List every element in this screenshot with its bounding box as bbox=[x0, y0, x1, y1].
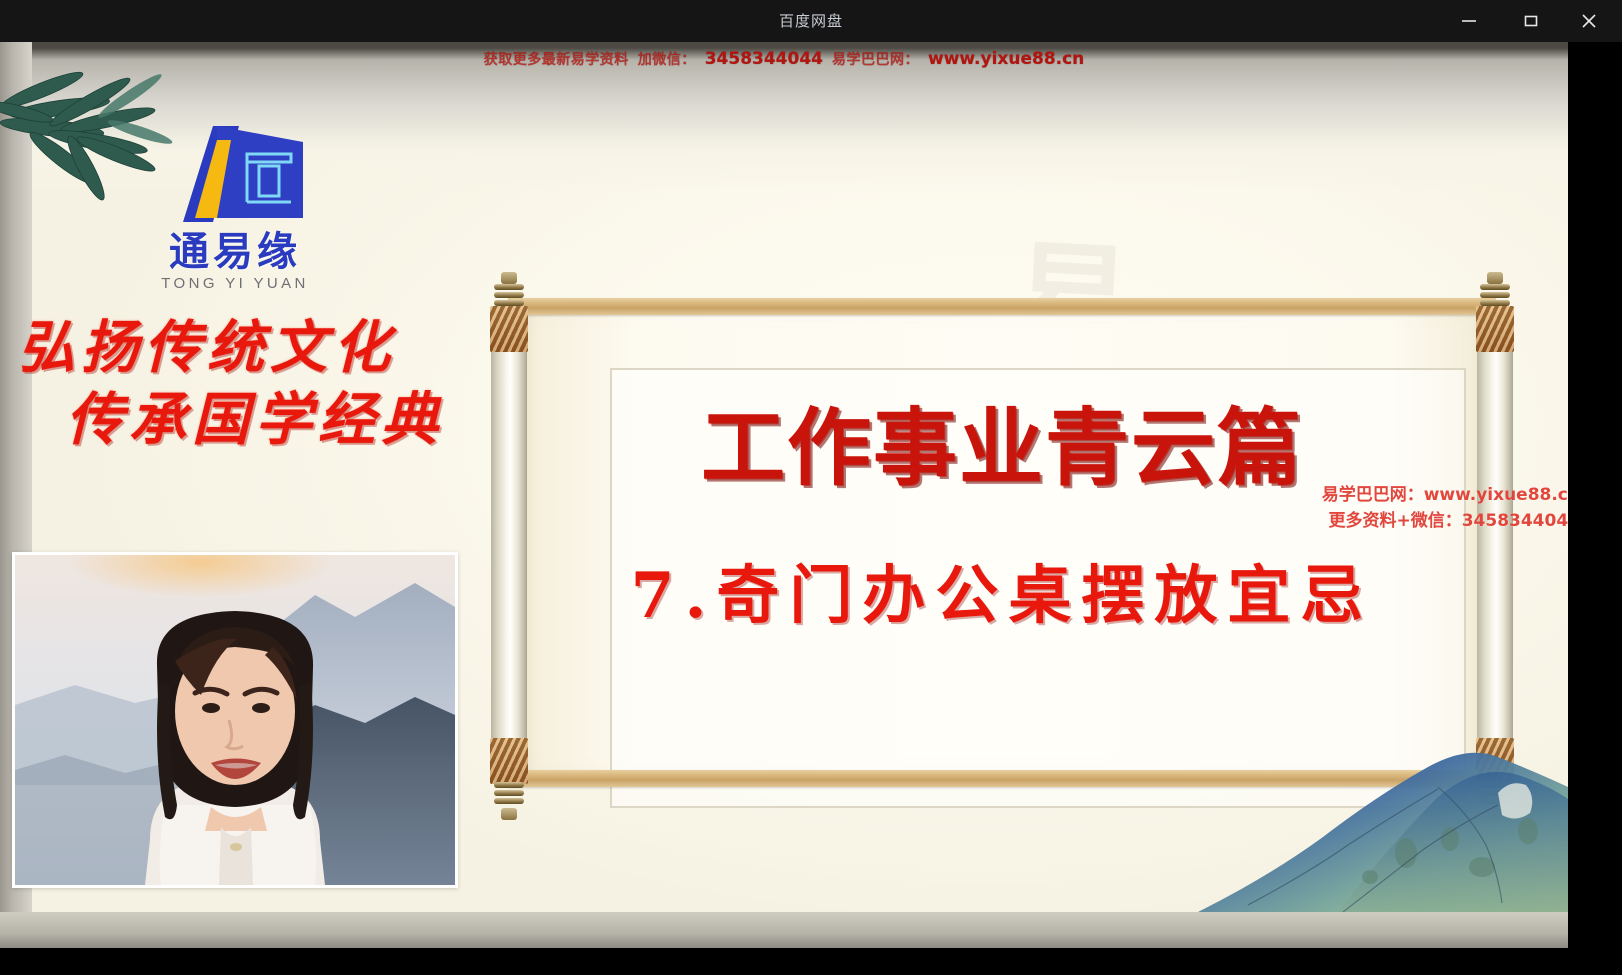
roller-band-top bbox=[1476, 306, 1514, 352]
slogan-line-1: 弘扬传统文化 bbox=[18, 318, 470, 378]
brand-name-cn: 通易缘 bbox=[140, 232, 330, 272]
scroll-top-wooden-bar bbox=[508, 298, 1496, 315]
presenter-video-feed[interactable] bbox=[12, 552, 458, 888]
brand-logo: 通易缘 TONG YI YUAN bbox=[140, 120, 330, 300]
roller-cap-top bbox=[494, 272, 524, 312]
roller-cap-top bbox=[1480, 272, 1510, 312]
video-slide-area[interactable]: 大 易 获取更多最新易学资料 加微信： 3458344044 易学巴巴网： ww… bbox=[0, 42, 1568, 948]
roller-cap-bottom bbox=[494, 780, 524, 820]
slide-bottom-border bbox=[0, 912, 1568, 948]
tongyiyuan-logo-icon bbox=[155, 120, 315, 228]
minimize-button[interactable] bbox=[1442, 0, 1496, 42]
presenter-portrait-image bbox=[15, 555, 455, 885]
minimize-icon bbox=[1459, 11, 1479, 31]
maximize-button[interactable] bbox=[1504, 0, 1558, 42]
window-title-text: 百度网盘 bbox=[0, 0, 1622, 42]
brand-name-en: TONG YI YUAN bbox=[140, 275, 330, 292]
baidu-netdisk-window: 百度网盘 大 易 获取更多最新易学资料 bbox=[0, 0, 1622, 975]
scroll-paper bbox=[514, 300, 1490, 786]
maximize-icon bbox=[1521, 11, 1541, 31]
slide-main-title: 工作事业青云篇 bbox=[478, 406, 1526, 490]
window-title-bar[interactable]: 百度网盘 bbox=[0, 0, 1622, 42]
slide-subtitle: 7.奇门办公桌摆放宜忌 bbox=[478, 564, 1526, 627]
roller-shaft bbox=[1477, 308, 1513, 784]
roller-band-bottom bbox=[490, 738, 528, 784]
close-button[interactable] bbox=[1562, 0, 1616, 42]
scroll-roller-left bbox=[488, 272, 530, 820]
roller-band-top bbox=[490, 306, 528, 352]
close-icon bbox=[1579, 11, 1599, 31]
slogan-line-2: 传承国学经典 bbox=[66, 390, 470, 450]
roller-shaft bbox=[491, 308, 527, 784]
slogan-block: 弘扬传统文化 传承国学经典 bbox=[0, 318, 470, 451]
ink-mountain-icon bbox=[1138, 727, 1568, 912]
